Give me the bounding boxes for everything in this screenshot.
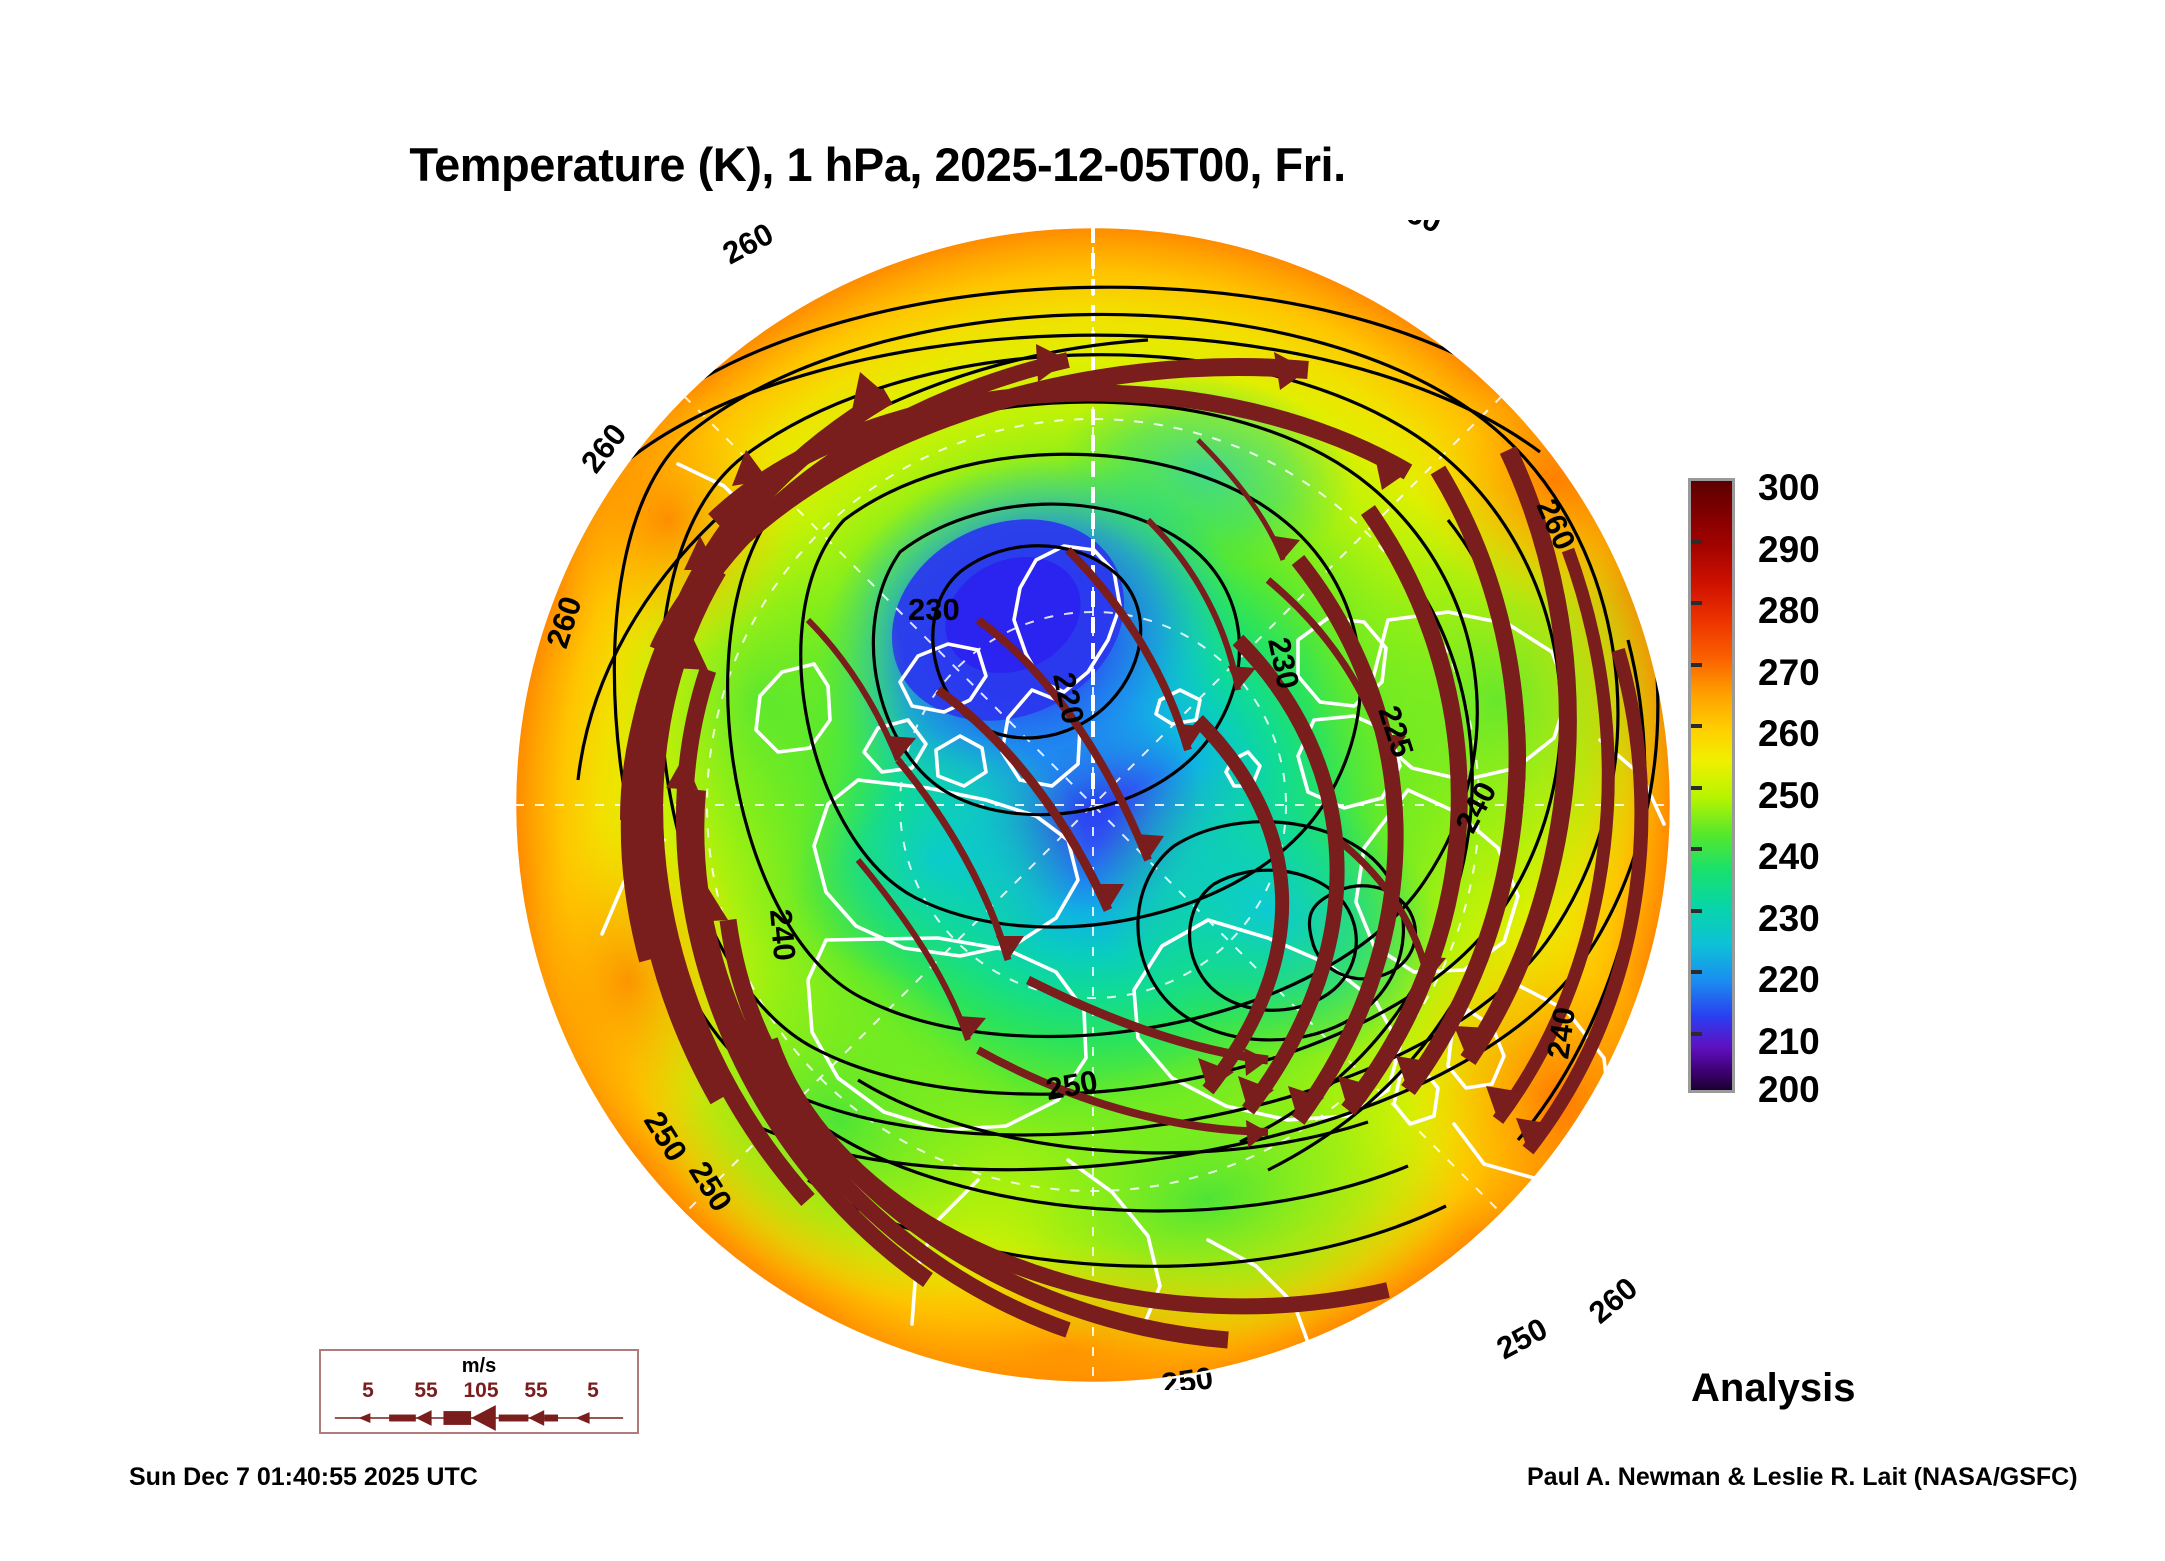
page-title: Temperature (K), 1 hPa, 2025-12-05T00, F…: [0, 137, 1755, 192]
wind-value-55-right: 55: [524, 1379, 547, 1403]
colorbar-tick: [1691, 847, 1702, 851]
colorbar-tick: [1691, 970, 1702, 974]
svg-text:260: 260: [717, 220, 779, 271]
wind-value-105: 105: [463, 1379, 498, 1403]
colorbar-label-290: 290: [1758, 529, 1820, 571]
wind-unit-label: m/s: [321, 1355, 637, 1378]
colorbar-label-300: 300: [1758, 467, 1820, 509]
colorbar-label-240: 240: [1758, 836, 1820, 878]
polar-stereographic-map[interactable]: 230 220 230 225 260 260 260 250 260 260 …: [508, 220, 1678, 1390]
colorbar-tick: [1691, 909, 1702, 913]
svg-text:240: 240: [763, 908, 802, 963]
colorbar-label-200: 200: [1758, 1069, 1820, 1111]
generation-timestamp: Sun Dec 7 01:40:55 2025 UTC: [129, 1463, 478, 1492]
colorbar-tick: [1691, 786, 1702, 790]
colorbar-tick: [1691, 540, 1702, 544]
colorbar-label-210: 210: [1758, 1021, 1820, 1063]
colorbar-label-250: 250: [1758, 775, 1820, 817]
colorbar[interactable]: 300 290 280 270 260 250 240 230 220 210 …: [1688, 478, 1988, 1098]
analysis-label: Analysis: [1691, 1366, 1856, 1411]
colorbar-label-220: 220: [1758, 959, 1820, 1001]
wind-value-5-left: 5: [362, 1379, 374, 1403]
polar-map-panel[interactable]: 230 220 230 225 260 260 260 250 260 260 …: [508, 220, 1678, 1390]
wind-value-5-right: 5: [587, 1379, 599, 1403]
wind-value-55-left: 55: [414, 1379, 437, 1403]
svg-text:260: 260: [1582, 1270, 1644, 1330]
colorbar-tick: [1691, 601, 1702, 605]
svg-text:230: 230: [908, 592, 960, 627]
colorbar-tick: [1691, 1032, 1702, 1036]
colorbar-label-230: 230: [1758, 898, 1820, 940]
colorbar-tick: [1691, 724, 1702, 728]
colorbar-label-280: 280: [1758, 590, 1820, 632]
svg-text:250: 250: [1491, 1311, 1553, 1366]
author-credit: Paul A. Newman & Leslie R. Lait (NASA/GS…: [1527, 1463, 2078, 1492]
svg-text:260: 260: [1385, 220, 1446, 240]
wind-arrow-scale-icon: [321, 1403, 637, 1433]
wind-scale-legend[interactable]: m/s 5 55 105 55 5: [319, 1349, 639, 1434]
svg-text:240: 240: [1540, 1005, 1582, 1061]
colorbar-tick: [1691, 663, 1702, 667]
colorbar-label-260: 260: [1758, 713, 1820, 755]
colorbar-label-270: 270: [1758, 652, 1820, 694]
